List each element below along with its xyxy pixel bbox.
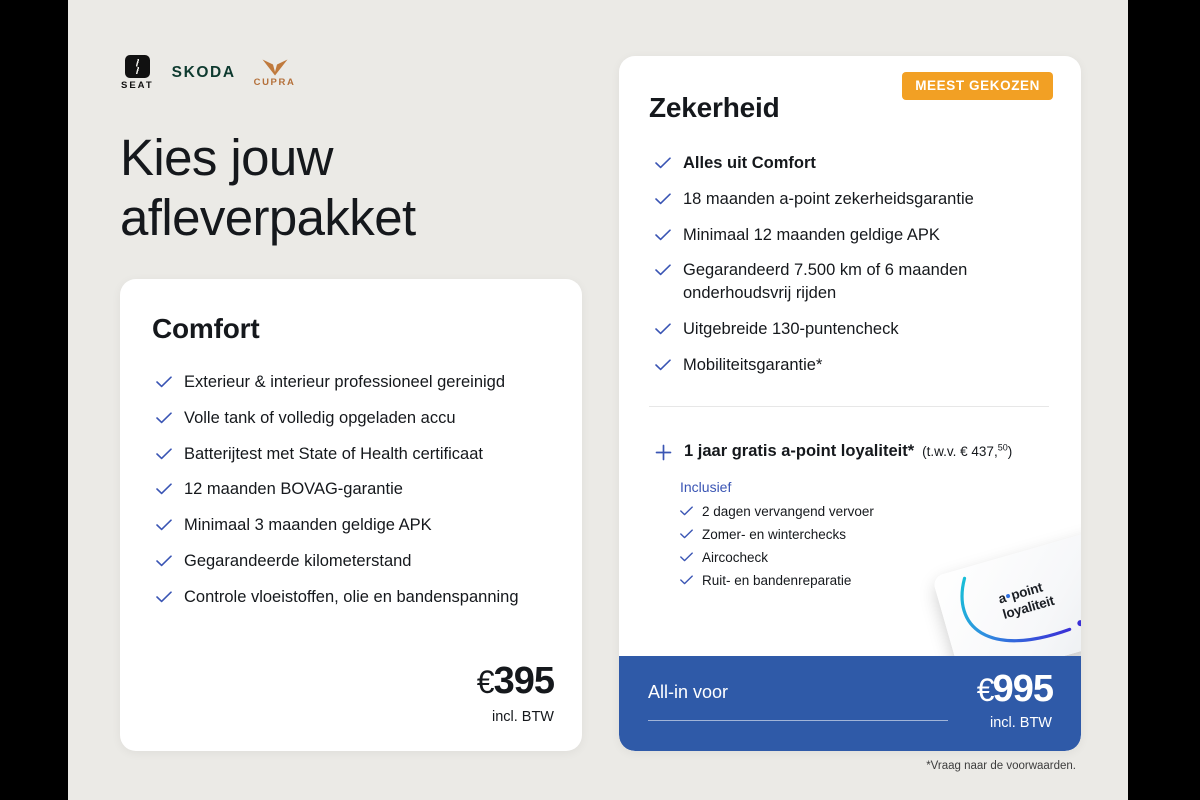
list-item: Minimaal 3 maanden geldige APK xyxy=(156,514,556,537)
skoda-logo: SKODA xyxy=(172,65,236,81)
loyalty-title: 1 jaar gratis a-point loyaliteit* xyxy=(684,442,914,460)
feature-text: Batterijtest met State of Health certifi… xyxy=(184,443,483,466)
zekerheid-feature-list: Alles uit Comfort 18 maanden a-point zek… xyxy=(655,152,1055,389)
check-icon xyxy=(156,483,172,495)
feature-text: Gegarandeerde kilometerstand xyxy=(184,550,411,573)
zekerheid-vat-note: incl. BTW xyxy=(990,715,1052,731)
list-item: Batterijtest met State of Health certifi… xyxy=(156,443,556,466)
check-icon xyxy=(655,229,671,241)
section-divider xyxy=(649,406,1049,407)
brand-logo-row: SEAT SKODA CUPRA xyxy=(121,56,295,90)
check-icon xyxy=(680,552,693,562)
loyalty-header: 1 jaar gratis a-point loyaliteit*(t.w.v.… xyxy=(655,441,1055,466)
check-icon xyxy=(156,519,172,531)
cupra-wordmark: CUPRA xyxy=(254,78,296,88)
check-icon xyxy=(156,412,172,424)
loyalty-value-cents: 50 xyxy=(998,443,1008,453)
page-canvas: SEAT SKODA CUPRA Kies jouw afleverpakket… xyxy=(68,0,1128,800)
list-item: Gegarandeerd 7.500 km of 6 maanden onder… xyxy=(655,259,1055,305)
comfort-vat-note: incl. BTW xyxy=(477,709,554,725)
price-amount: 995 xyxy=(993,668,1053,710)
zekerheid-price: €995 xyxy=(977,670,1053,708)
feature-text: Aircocheck xyxy=(702,548,768,569)
plus-icon xyxy=(655,444,672,466)
zekerheid-price-bar: All-in voor €995 incl. BTW xyxy=(619,656,1081,751)
check-icon xyxy=(680,506,693,516)
loyalty-title-wrap: 1 jaar gratis a-point loyaliteit*(t.w.v.… xyxy=(684,441,1012,462)
comfort-title: Comfort xyxy=(152,313,259,345)
feature-text: 2 dagen vervangend vervoer xyxy=(702,502,874,523)
list-item: Volle tank of volledig opgeladen accu xyxy=(156,407,556,430)
comfort-feature-list: Exterieur & interieur professioneel gere… xyxy=(156,371,556,621)
price-amount: 395 xyxy=(494,660,554,702)
allin-label: All-in voor xyxy=(648,682,728,703)
check-icon xyxy=(655,359,671,371)
cupra-logo: CUPRA xyxy=(254,59,296,88)
check-icon xyxy=(156,591,172,603)
comfort-price-block: €395 incl. BTW xyxy=(477,662,554,725)
inclusief-label: Inclusief xyxy=(680,479,1055,495)
feature-text: Controle vloeistoffen, olie en bandenspa… xyxy=(184,586,519,609)
feature-text: Uitgebreide 130-puntencheck xyxy=(683,318,899,341)
seat-logo: SEAT xyxy=(121,55,154,91)
list-item: Gegarandeerde kilometerstand xyxy=(156,550,556,573)
feature-text: Volle tank of volledig opgeladen accu xyxy=(184,407,456,430)
status-badge: MEEST GEKOZEN xyxy=(902,72,1053,100)
cupra-mark-icon xyxy=(262,59,288,76)
footnote: *Vraag naar de voorwaarden. xyxy=(926,760,1076,772)
feature-text: Gegarandeerd 7.500 km of 6 maanden onder… xyxy=(683,259,1055,305)
list-item: Controle vloeistoffen, olie en bandenspa… xyxy=(156,586,556,609)
loyalty-value: (t.w.v. € 437,50) xyxy=(922,444,1012,459)
list-item: Uitgebreide 130-puntencheck xyxy=(655,318,1055,341)
check-icon xyxy=(156,448,172,460)
feature-text: Exterieur & interieur professioneel gere… xyxy=(184,371,505,394)
currency-symbol: € xyxy=(977,672,994,708)
check-icon xyxy=(680,529,693,539)
list-item: 12 maanden BOVAG-garantie xyxy=(156,478,556,501)
list-item: Exterieur & interieur professioneel gere… xyxy=(156,371,556,394)
feature-text: Alles uit Comfort xyxy=(683,152,816,175)
feature-text: Minimaal 3 maanden geldige APK xyxy=(184,514,432,537)
feature-text: Mobiliteitsgarantie* xyxy=(683,354,822,377)
seat-wordmark: SEAT xyxy=(121,81,154,91)
feature-text: Zomer- en winterchecks xyxy=(702,525,846,546)
check-icon xyxy=(655,157,671,169)
feature-text: 18 maanden a-point zekerheidsgarantie xyxy=(683,188,974,211)
list-item: Mobiliteitsgarantie* xyxy=(655,354,1055,377)
list-item: Alles uit Comfort xyxy=(655,152,1055,175)
loyalty-value-prefix: (t.w.v. € 437, xyxy=(922,444,998,459)
list-item: 18 maanden a-point zekerheidsgarantie xyxy=(655,188,1055,211)
page-title: Kies jouw afleverpakket xyxy=(120,128,550,248)
package-card-comfort[interactable]: Comfort Exterieur & interieur profession… xyxy=(120,279,582,751)
check-icon xyxy=(655,323,671,335)
currency-symbol: € xyxy=(477,664,494,700)
list-item: Minimaal 12 maanden geldige APK xyxy=(655,224,1055,247)
check-icon xyxy=(655,193,671,205)
check-icon xyxy=(680,575,693,585)
package-card-zekerheid[interactable]: MEEST GEKOZEN Zekerheid Alles uit Comfor… xyxy=(619,56,1081,751)
loyalty-value-suffix: ) xyxy=(1008,444,1013,459)
feature-text: Ruit- en bandenreparatie xyxy=(702,571,851,592)
feature-text: 12 maanden BOVAG-garantie xyxy=(184,478,403,501)
seat-mark-icon xyxy=(125,55,150,78)
check-icon xyxy=(655,264,671,276)
check-icon xyxy=(156,376,172,388)
zekerheid-title: Zekerheid xyxy=(649,92,779,124)
comfort-price: €395 xyxy=(477,662,554,700)
screen-root: SEAT SKODA CUPRA Kies jouw afleverpakket… xyxy=(0,0,1200,800)
list-item: 2 dagen vervangend vervoer xyxy=(680,502,1055,523)
list-item: Zomer- en winterchecks xyxy=(680,525,1055,546)
price-rule xyxy=(648,720,948,721)
feature-text: Minimaal 12 maanden geldige APK xyxy=(683,224,940,247)
check-icon xyxy=(156,555,172,567)
